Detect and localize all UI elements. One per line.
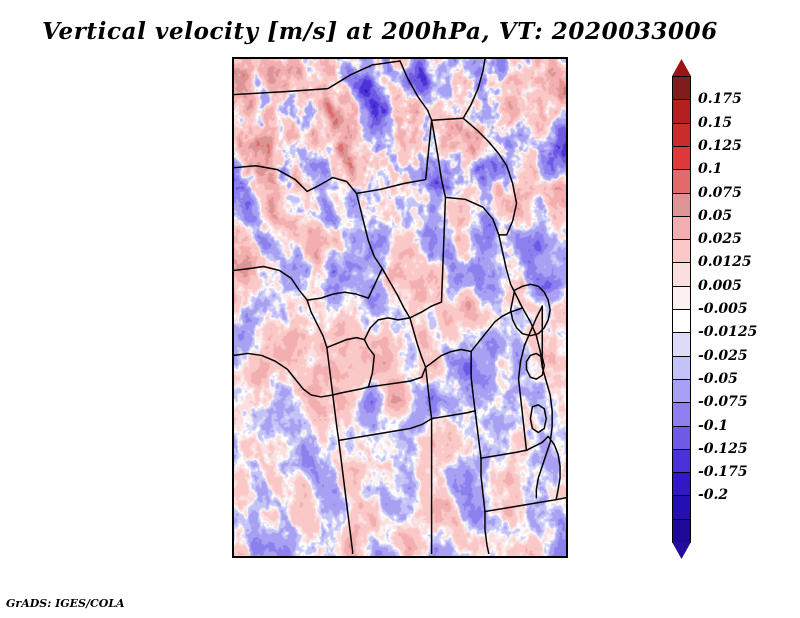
colorbar-tick-label: -0.1 — [698, 418, 728, 434]
colorbar-swatch — [672, 169, 691, 194]
grads-credit: GrADS: IGES/COLA — [6, 597, 125, 610]
colorbar-tick-label: -0.05 — [698, 371, 738, 387]
colorbar-tick-label: 0.05 — [698, 208, 732, 224]
colorbar-tick-label: -0.175 — [698, 464, 748, 480]
colorbar-swatch — [672, 472, 691, 497]
colorbar-tick-label: 0.025 — [698, 231, 742, 247]
colorbar-tick-label: 0.0125 — [698, 254, 752, 270]
colorbar-tick-label: 0.075 — [698, 185, 742, 201]
colorbar-swatch — [672, 449, 691, 474]
colorbar-tick-label: -0.075 — [698, 394, 748, 410]
page-title: Vertical velocity [m/s] at 200hPa, VT: 2… — [0, 18, 760, 45]
colorbar-tick-label: 0.125 — [698, 138, 742, 154]
colorbar-tick-label: 0.15 — [698, 115, 732, 131]
colorbar-swatch — [672, 76, 691, 101]
colorbar-swatch — [672, 402, 691, 427]
colorbar-swatch — [672, 332, 691, 357]
colorbar-tick-label: -0.125 — [698, 441, 748, 457]
colorbar-tick-label: 0.175 — [698, 91, 742, 107]
colorbar-swatch — [672, 193, 691, 218]
colorbar-swatch — [672, 99, 691, 124]
colorbar-swatch — [672, 216, 691, 241]
colorbar-tick-label: 0.005 — [698, 278, 742, 294]
colorbar-swatch — [672, 495, 691, 520]
colorbar-tick-label: 0.1 — [698, 161, 722, 177]
colorbar-swatch — [672, 286, 691, 311]
colorbar-swatch — [672, 262, 691, 287]
colorbar-tick-label: -0.2 — [698, 487, 728, 503]
colorbar[interactable]: 0.1750.150.1250.10.0750.050.0250.01250.0… — [672, 76, 691, 542]
colorbar-extend-min-arrow — [672, 542, 691, 559]
colorbar-swatch — [672, 146, 691, 171]
colorbar-swatch — [672, 356, 691, 381]
colorbar-tick-label: -0.0125 — [698, 324, 757, 340]
colorbar-swatch — [672, 379, 691, 404]
colorbar-tick-label: -0.025 — [698, 348, 748, 364]
country-borders-overlay — [234, 59, 566, 554]
map-plot-area: 20N 15N 10N 5N EQ 5S 10S 15S 3E 6E 9E 12… — [232, 57, 568, 558]
colorbar-swatch — [672, 123, 691, 148]
colorbar-swatch — [672, 519, 691, 544]
colorbar-swatch — [672, 309, 691, 334]
colorbar-tick-label: -0.005 — [698, 301, 748, 317]
colorbar-swatch — [672, 426, 691, 451]
colorbar-swatch — [672, 239, 691, 264]
colorbar-extend-max-arrow — [672, 59, 691, 76]
